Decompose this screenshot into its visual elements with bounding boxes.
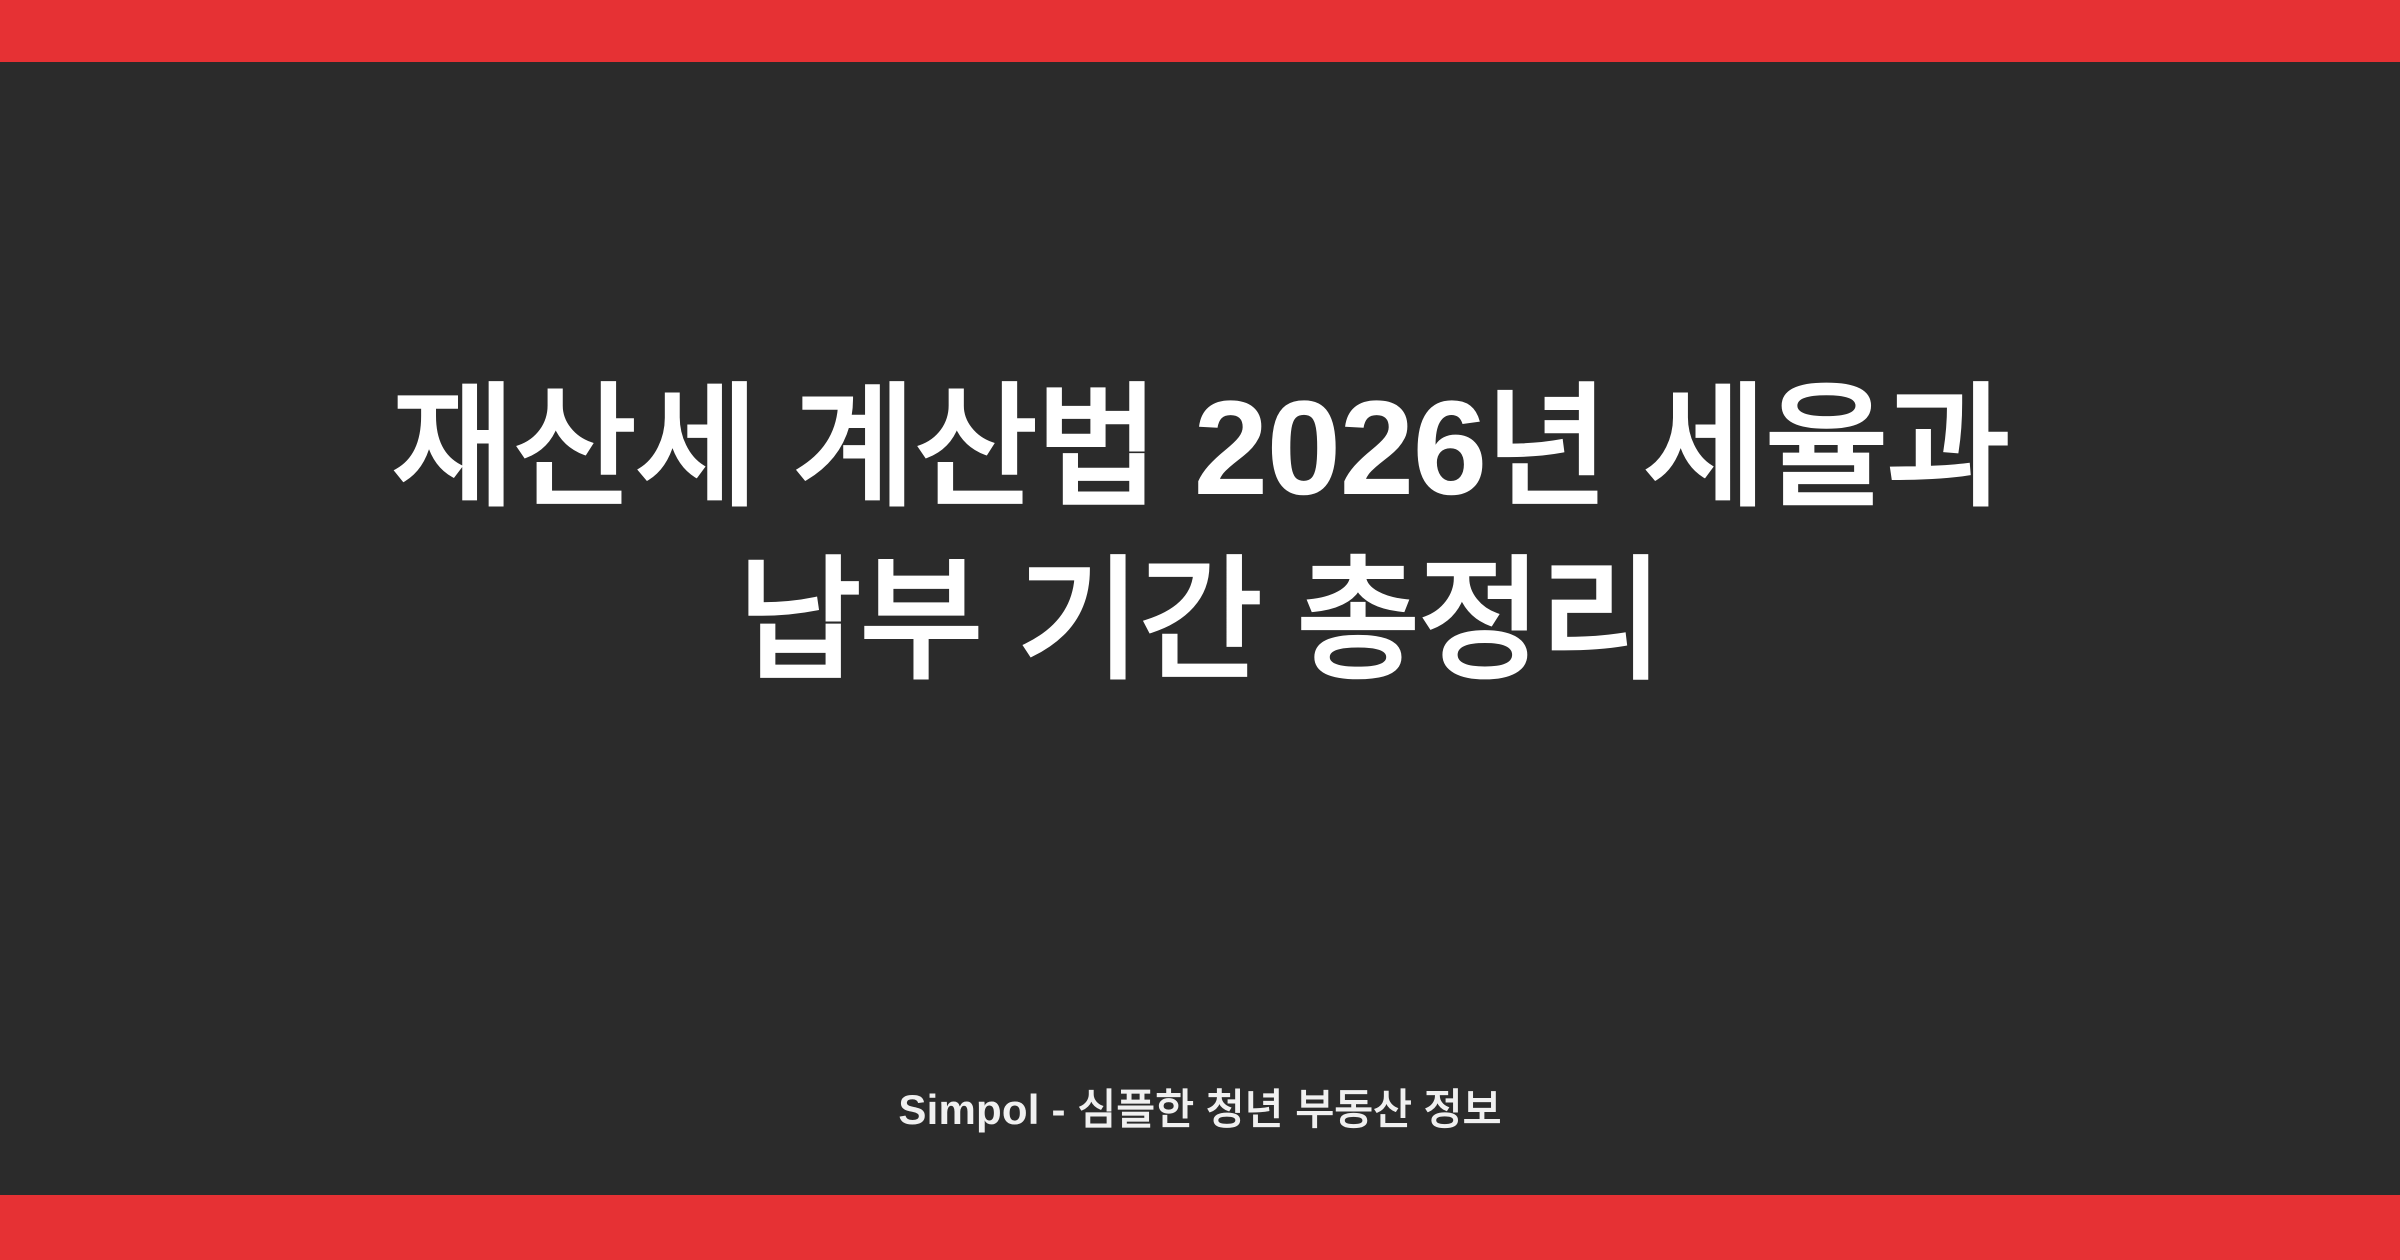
headline-line-1: 재산세 계산법 2026년 세율과 (120, 362, 2280, 535)
brand-label: Simpol - 심플한 청년 부동산 정보 (898, 1085, 1501, 1135)
brand-footer: Simpol - 심플한 청년 부동산 정보 (0, 1085, 2400, 1135)
thumbnail-card: 재산세 계산법 2026년 세율과 납부 기간 총정리 Simpol - 심플한… (0, 0, 2400, 1260)
bottom-accent-bar (0, 1195, 2400, 1260)
headline-line-2: 납부 기간 총정리 (120, 535, 2280, 708)
headline-block: 재산세 계산법 2026년 세율과 납부 기간 총정리 (0, 362, 2400, 708)
top-accent-bar (0, 0, 2400, 62)
content-stage: 재산세 계산법 2026년 세율과 납부 기간 총정리 Simpol - 심플한… (0, 62, 2400, 1195)
